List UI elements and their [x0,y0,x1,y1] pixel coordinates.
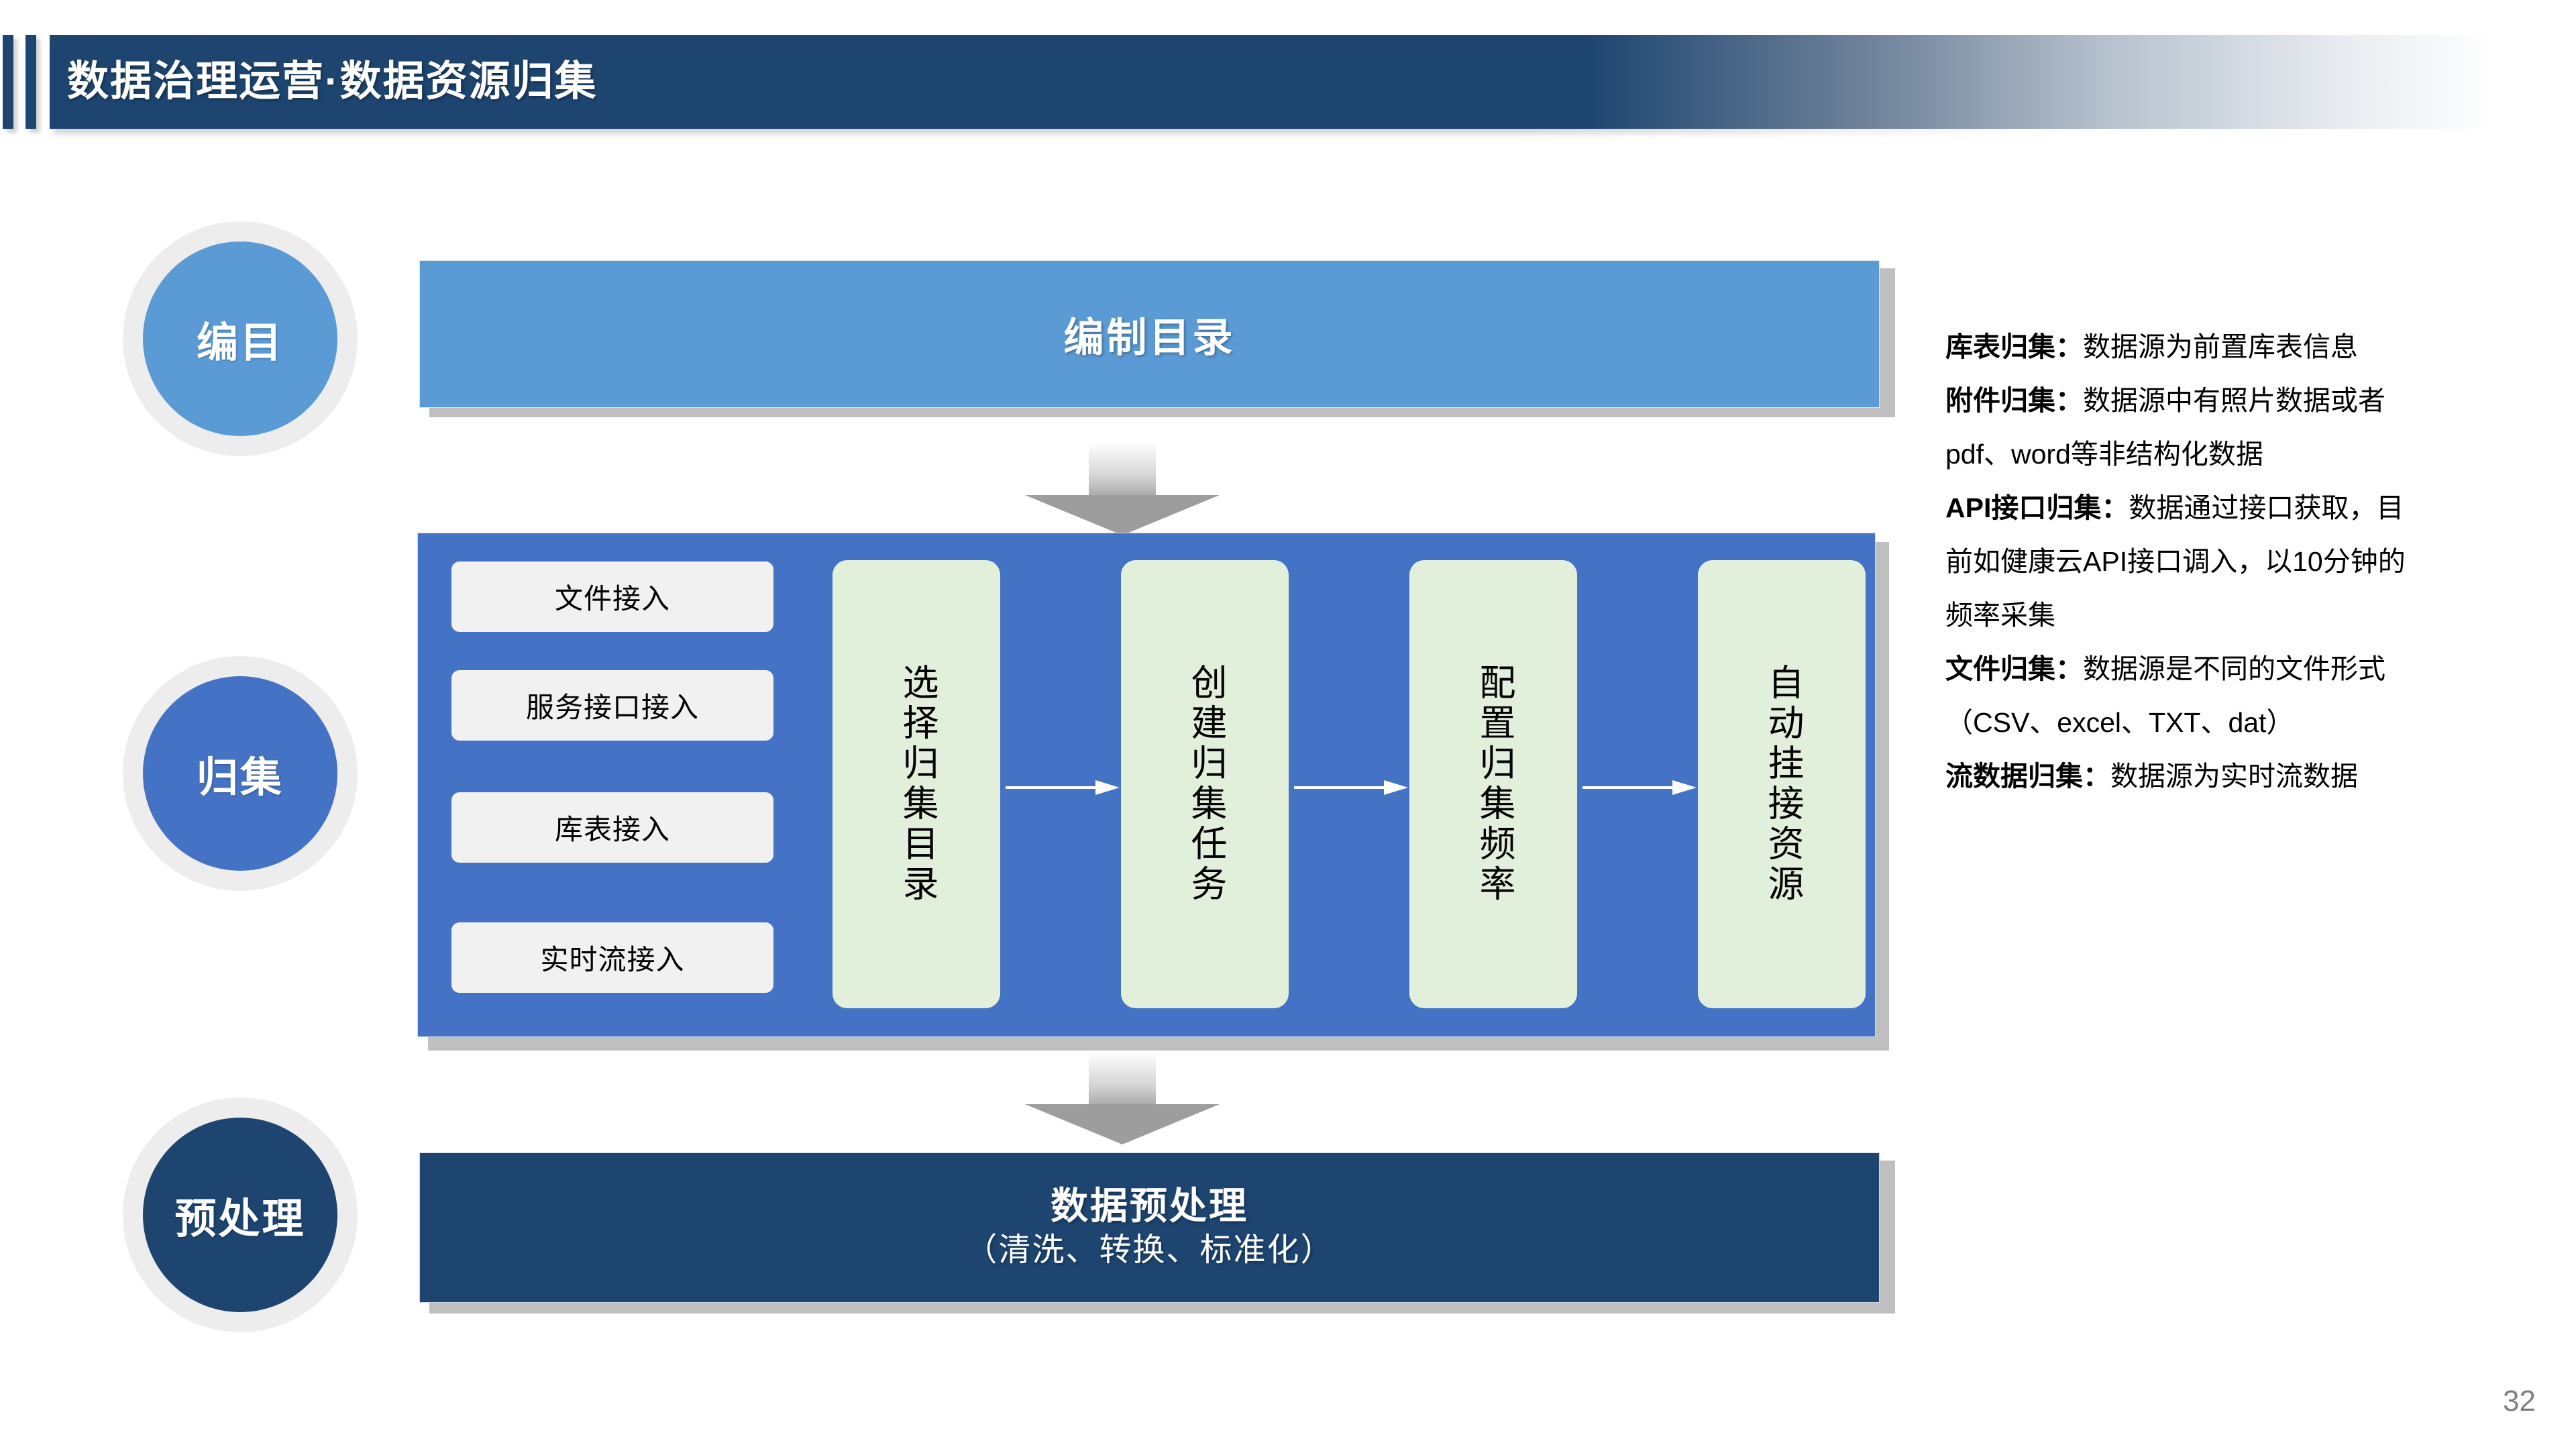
arrow-shaft [1089,444,1156,496]
stage-circle-collect-label: 归集 [143,676,337,871]
stage-circle-preprocess-label: 预处理 [143,1118,337,1312]
arrow-head [1025,495,1220,535]
flow-arrow-tip [1095,780,1120,795]
flow-arrow-line [1582,786,1676,789]
source-chip-file[interactable]: 文件接入 [451,561,773,632]
flow-arrow-line [1294,786,1388,789]
source-chip-realtime-stream[interactable]: 实时流接入 [451,922,773,993]
flow-arrow-icon-3 [1582,780,1697,795]
step-card-select-catalog-label: 选择归集目录 [894,663,938,905]
note-desc: 数据源为实时流数据 [2110,761,2358,792]
flow-arrow-line [1006,786,1099,789]
note-item-api: API接口归集：数据通过接口获取，目前如健康云API接口调入，以10分钟的频率采… [1945,482,2428,643]
notes-list: 库表归集：数据源为前置库表信息 附件归集：数据源中有照片数据或者pdf、word… [1945,321,2428,803]
arrow-head [1025,1104,1220,1144]
stage-circle-catalog[interactable]: 编目 [123,221,358,456]
preprocess-bar-title: 数据预处理 [1051,1185,1248,1228]
flow-arrow-tip [1672,780,1697,795]
note-term: 流数据归集： [1945,761,2110,792]
note-term: 附件归集： [1945,385,2083,416]
stage-circle-preprocess[interactable]: 预处理 [123,1097,358,1332]
note-item-file: 文件归集：数据源是不同的文件形式（CSV、excel、TXT、dat） [1945,643,2428,750]
stage-circle-catalog-label: 编目 [143,241,337,436]
step-card-config-frequency-label: 配置归集频率 [1471,663,1515,905]
step-card-config-frequency[interactable]: 配置归集频率 [1409,560,1577,1008]
source-chip-db-table[interactable]: 库表接入 [451,792,773,863]
note-item-db-table: 库表归集：数据源为前置库表信息 [1945,321,2428,374]
preprocess-bar[interactable]: 数据预处理 （清洗、转换、标准化） [419,1152,1880,1303]
title-accent-bar-2 [25,35,36,129]
note-term: 库表归集： [1945,331,2083,362]
note-item-stream: 流数据归集：数据源为实时流数据 [1945,750,2428,804]
page-title: 数据治理运营·数据资源归集 [67,35,598,129]
step-card-auto-mount-resource[interactable]: 自动挂接资源 [1698,560,1866,1008]
step-card-auto-mount-resource-label: 自动挂接资源 [1760,663,1804,905]
page-number: 32 [2455,1385,2536,1418]
note-desc: 数据源为前置库表信息 [2083,331,2358,362]
source-chip-service-api[interactable]: 服务接口接入 [451,670,773,741]
flow-arrow-icon-2 [1294,780,1408,795]
preprocess-bar-subtitle: （清洗、转换、标准化） [965,1230,1334,1271]
step-card-select-catalog[interactable]: 选择归集目录 [833,560,1000,1008]
flow-arrow-icon-1 [1006,780,1120,795]
down-arrow-icon-bottom [1025,1053,1220,1140]
step-card-create-task-label: 创建归集任务 [1183,663,1227,905]
note-item-attachment: 附件归集：数据源中有照片数据或者pdf、word等非结构化数据 [1945,374,2428,482]
note-term: API接口归集： [1945,492,2129,523]
stage-circle-collect[interactable]: 归集 [123,656,358,891]
arrow-shaft [1089,1053,1156,1106]
step-card-create-task[interactable]: 创建归集任务 [1121,560,1289,1008]
down-arrow-icon-top [1025,444,1220,531]
flow-arrow-tip [1384,780,1408,795]
slide-header: 数据治理运营·数据资源归集 [0,35,2576,129]
catalog-bar[interactable]: 编制目录 [419,260,1880,408]
collect-panel: 文件接入 服务接口接入 库表接入 实时流接入 选择归集目录 创建归集任务 配置归… [417,533,1876,1037]
note-term: 文件归集： [1945,653,2083,684]
title-accent-bar-1 [3,35,13,129]
